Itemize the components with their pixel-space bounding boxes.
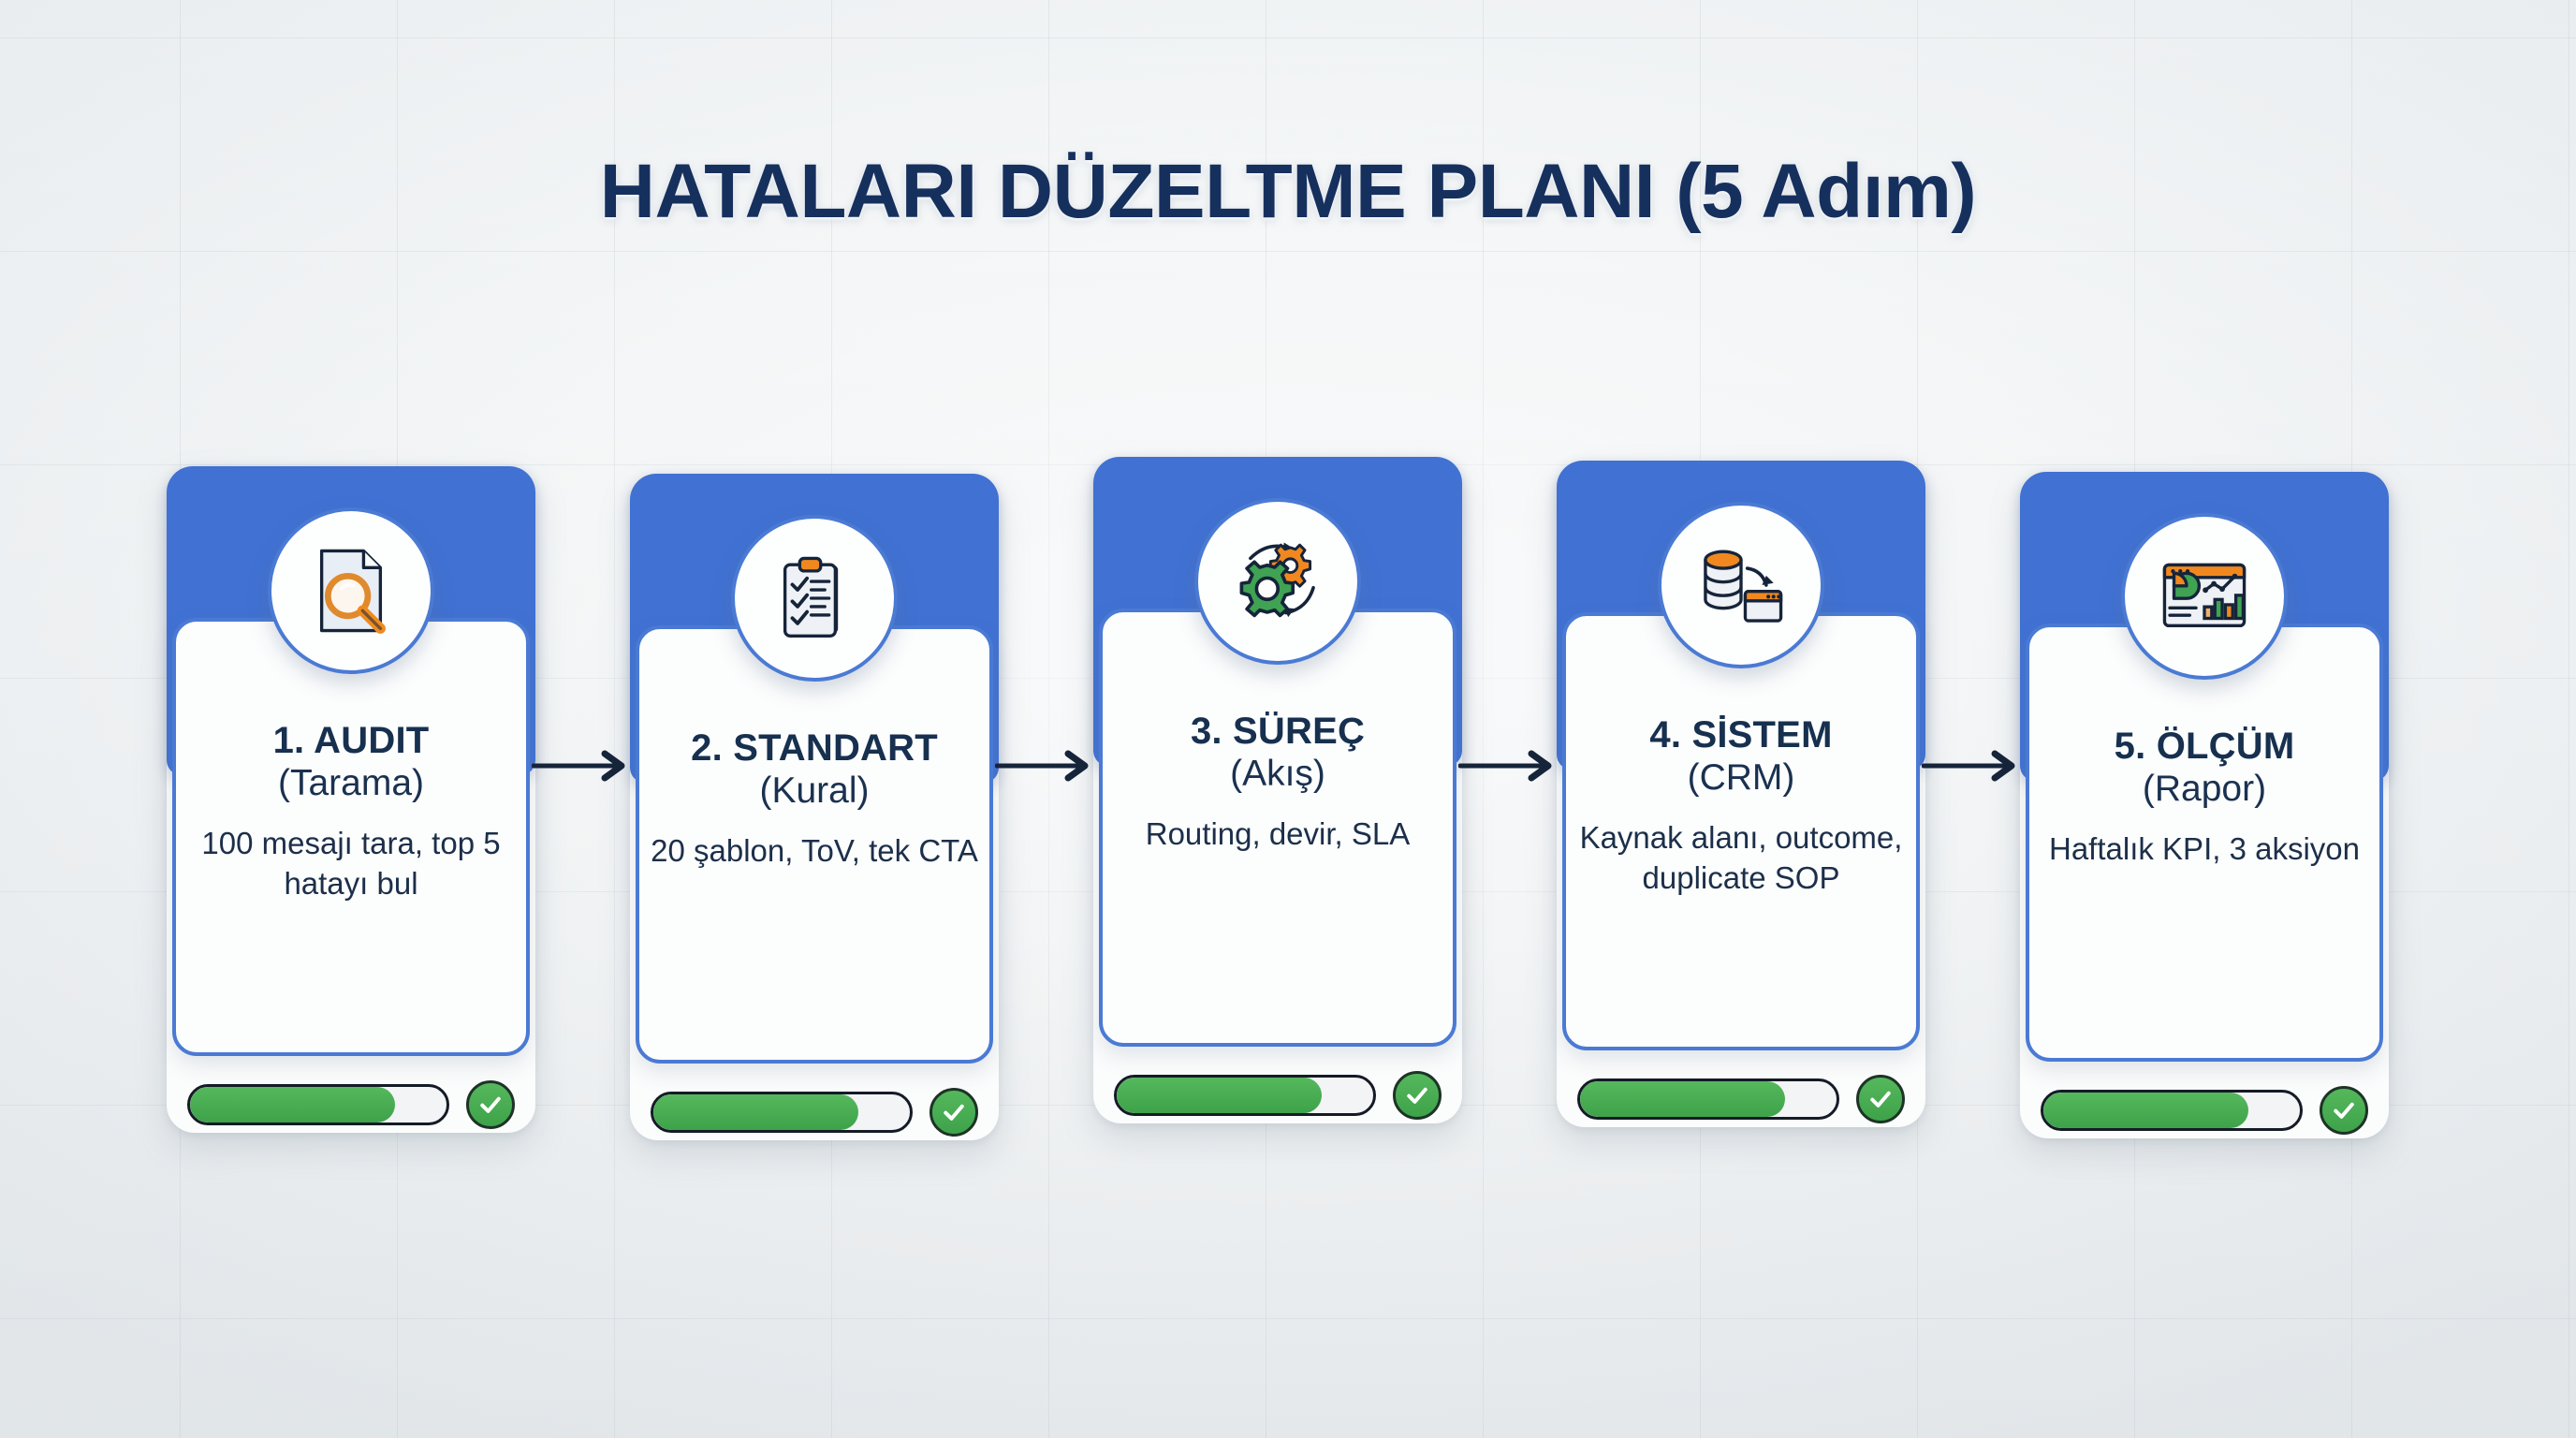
step-subtitle: (CRM)	[1566, 756, 1916, 800]
step-card-3[interactable]: 3. SÜREÇ (Akış) Routing, devir, SLA	[1086, 440, 1470, 1137]
gears-process-icon	[1194, 498, 1361, 665]
step-description: 100 mesajı tara, top 5 hatayı bul	[176, 824, 526, 902]
check-circle-icon	[1856, 1075, 1905, 1123]
step-progress-row-3	[1114, 1069, 1442, 1122]
progress-fill	[2043, 1093, 2248, 1128]
step-text-1: 1. AUDIT (Tarama) 100 mesajı tara, top 5…	[159, 721, 543, 903]
progress-fill	[190, 1087, 395, 1123]
progress-bar[interactable]	[1577, 1078, 1839, 1120]
progress-fill	[1580, 1081, 1785, 1117]
arrow-right-icon	[1458, 747, 1563, 785]
step-subtitle: (Kural)	[639, 770, 989, 813]
progress-bar[interactable]	[1114, 1075, 1376, 1116]
progress-fill	[653, 1094, 858, 1130]
step-subtitle: (Rapor)	[2029, 768, 2379, 811]
check-circle-icon	[929, 1088, 978, 1137]
step-text-2: 2. STANDART (Kural) 20 şablon, ToV, tek …	[622, 728, 1006, 872]
step-card-2[interactable]: 2. STANDART (Kural) 20 şablon, ToV, tek …	[622, 457, 1006, 1154]
step-title: 2. STANDART	[639, 728, 989, 768]
dashboard-analytics-icon	[2121, 513, 2288, 680]
step-subtitle: (Akış)	[1103, 753, 1453, 796]
progress-bar[interactable]	[187, 1084, 449, 1125]
document-magnifier-icon	[268, 507, 434, 674]
step-progress-row-2	[651, 1086, 978, 1138]
check-circle-icon	[1393, 1071, 1442, 1120]
database-window-icon	[1658, 502, 1824, 668]
check-circle-icon	[466, 1080, 515, 1129]
progress-fill	[1117, 1078, 1322, 1113]
step-card-1[interactable]: 1. AUDIT (Tarama) 100 mesajı tara, top 5…	[159, 449, 543, 1147]
steps-container: 1. AUDIT (Tarama) 100 mesajı tara, top 5…	[159, 449, 2424, 1161]
arrow-right-icon	[532, 747, 637, 785]
step-title: 5. ÖLÇÜM	[2029, 726, 2379, 766]
step-card-4[interactable]: 4. SİSTEM (CRM) Kaynak alanı, outcome, d…	[1549, 444, 1933, 1141]
progress-bar[interactable]	[651, 1092, 913, 1133]
step-text-4: 4. SİSTEM (CRM) Kaynak alanı, outcome, d…	[1549, 715, 1933, 898]
arrow-right-icon	[995, 747, 1100, 785]
progress-bar[interactable]	[2041, 1090, 2303, 1131]
step-progress-row-4	[1577, 1073, 1905, 1125]
step-title: 3. SÜREÇ	[1103, 712, 1453, 751]
step-progress-row-1	[187, 1078, 515, 1131]
clipboard-checklist-icon	[731, 515, 898, 682]
step-text-5: 5. ÖLÇÜM (Rapor) Haftalık KPI, 3 aksiyon	[2012, 726, 2396, 870]
step-description: Haftalık KPI, 3 aksiyon	[2029, 829, 2379, 869]
check-circle-icon	[2320, 1086, 2368, 1135]
step-subtitle: (Tarama)	[176, 762, 526, 805]
step-title: 4. SİSTEM	[1566, 715, 1916, 755]
page-title: HATALARI DÜZELTME PLANI (5 Adım)	[0, 148, 2576, 236]
step-description: Kaynak alanı, outcome, duplicate SOP	[1566, 818, 1916, 897]
step-progress-row-5	[2041, 1084, 2368, 1137]
step-description: 20 şablon, ToV, tek CTA	[639, 831, 989, 871]
step-description: Routing, devir, SLA	[1103, 814, 1453, 854]
step-card-5[interactable]: 5. ÖLÇÜM (Rapor) Haftalık KPI, 3 aksiyon	[2012, 455, 2396, 1152]
arrow-right-icon	[1922, 747, 2027, 785]
step-title: 1. AUDIT	[176, 721, 526, 760]
step-text-3: 3. SÜREÇ (Akış) Routing, devir, SLA	[1086, 712, 1470, 855]
